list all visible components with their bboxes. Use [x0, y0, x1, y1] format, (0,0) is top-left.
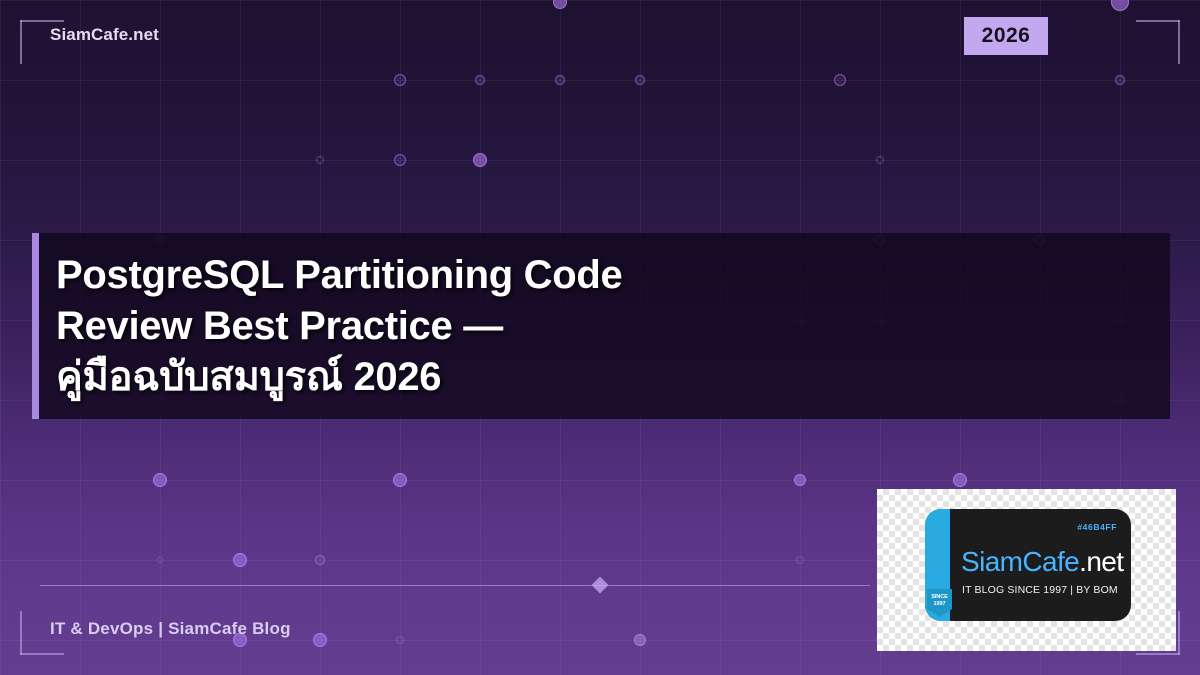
decorative-dot	[233, 553, 247, 567]
decorative-dot	[316, 156, 324, 164]
decorative-dot	[1111, 0, 1129, 11]
decorative-dot	[315, 555, 325, 565]
logo-card-inner: SINCE 1997 #46B4FF SiamCafe.net IT BLOG …	[925, 509, 1131, 621]
decorative-dot	[394, 74, 406, 86]
logo-wordmark-suffix: .net	[1079, 546, 1123, 577]
decorative-dot	[153, 473, 167, 487]
title-banner: PostgreSQL Partitioning Code Review Best…	[32, 233, 1170, 419]
bracket-line-horizontal	[1136, 653, 1180, 655]
bracket-line-vertical	[20, 611, 22, 655]
footer-divider	[40, 585, 870, 586]
decorative-dot	[834, 74, 846, 86]
decorative-dot	[555, 75, 565, 85]
decorative-dot	[635, 75, 645, 85]
ribbon-line-1: SINCE	[931, 594, 948, 600]
footer-caption: IT & DevOps | SiamCafe Blog	[50, 619, 291, 639]
brand-name: SiamCafe.net	[50, 25, 159, 45]
decorative-dot	[313, 633, 327, 647]
decorative-dot	[553, 0, 567, 9]
decorative-dot	[475, 75, 485, 85]
divider-diamond-marker	[592, 577, 609, 594]
decorative-dot	[473, 153, 487, 167]
decorative-dot	[157, 557, 163, 563]
decorative-dot	[634, 634, 646, 646]
page-title: PostgreSQL Partitioning Code Review Best…	[56, 250, 696, 402]
decorative-dot	[396, 636, 404, 644]
bracket-line-horizontal	[20, 20, 64, 22]
logo-wordmark: SiamCafe.net	[961, 546, 1123, 578]
decorative-dot	[1115, 75, 1125, 85]
decorative-dot	[796, 556, 804, 564]
bracket-line-horizontal	[1136, 20, 1180, 22]
ribbon-line-2: 1997	[933, 601, 945, 607]
logo-card: SINCE 1997 #46B4FF SiamCafe.net IT BLOG …	[877, 489, 1176, 651]
decorative-dot	[394, 154, 406, 166]
decorative-dot	[393, 473, 407, 487]
slide-canvas: SiamCafe.net 2026 PostgreSQL Partitionin…	[0, 0, 1200, 675]
bracket-line-vertical	[20, 20, 22, 64]
year-badge: 2026	[964, 17, 1048, 55]
bracket-line-vertical	[1178, 611, 1180, 655]
title-accent-bar	[32, 233, 39, 419]
decorative-dot	[953, 473, 967, 487]
logo-tagline: IT BLOG SINCE 1997 | BY BOM	[962, 584, 1118, 596]
logo-hex-label: #46B4FF	[1077, 522, 1117, 532]
decorative-dot	[794, 474, 806, 486]
bracket-line-horizontal	[20, 653, 64, 655]
bracket-line-vertical	[1178, 20, 1180, 64]
logo-wordmark-primary: SiamCafe	[961, 546, 1079, 577]
corner-bracket-top-right	[1136, 20, 1180, 64]
decorative-dot	[876, 156, 884, 164]
